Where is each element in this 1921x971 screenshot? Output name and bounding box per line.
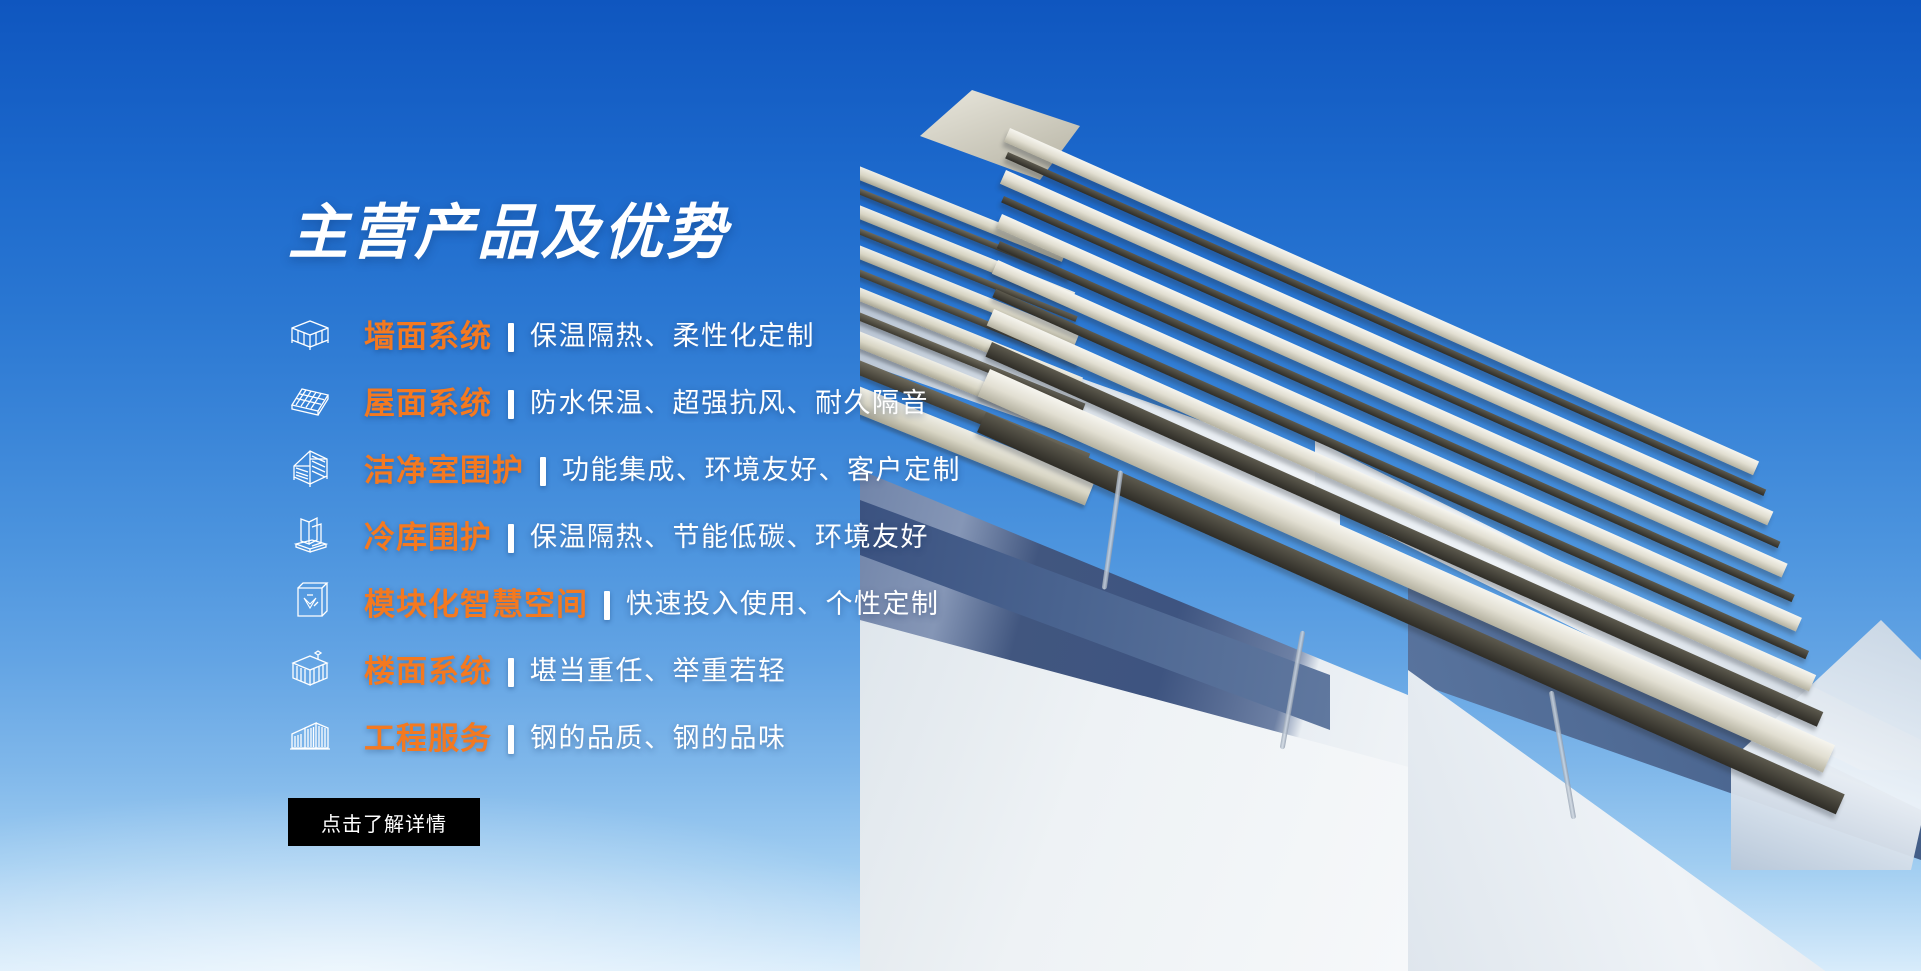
product-desc: 防水保温、超强抗风、耐久隔音: [530, 381, 929, 420]
product-separator: [508, 658, 514, 687]
product-separator: [508, 524, 514, 553]
product-title: 工程服务: [364, 713, 492, 758]
banner-stage: 主营产品及优势 墙面系统 保温隔热、柔性化定制: [0, 0, 1921, 971]
product-separator: [540, 457, 546, 486]
product-title: 洁净室围护: [364, 445, 524, 490]
product-desc: 钢的品质、钢的品味: [530, 716, 787, 755]
roof-system-icon: [288, 379, 332, 423]
product-row-cleanroom-enclosure[interactable]: 洁净室围护 功能集成、环境友好、客户定制: [288, 434, 1468, 501]
wall-system-icon: [288, 312, 332, 356]
cleanroom-enclosure-icon: [288, 446, 332, 490]
product-row-wall-system[interactable]: 墙面系统 保温隔热、柔性化定制: [288, 300, 1468, 367]
product-row-modular-smart-space[interactable]: 模块化智慧空间 快速投入使用、个性定制: [288, 568, 1468, 635]
page-title: 主营产品及优势: [288, 203, 729, 263]
product-desc: 保温隔热、节能低碳、环境友好: [530, 515, 929, 554]
product-desc: 保温隔热、柔性化定制: [530, 314, 815, 353]
product-row-roof-system[interactable]: 屋面系统 防水保温、超强抗风、耐久隔音: [288, 367, 1468, 434]
product-row-floor-system[interactable]: 楼面系统 堪当重任、举重若轻: [288, 635, 1468, 702]
product-title: 冷库围护: [364, 512, 492, 557]
product-title: 屋面系统: [364, 378, 492, 423]
floor-system-icon: [288, 647, 332, 691]
product-row-engineering-service[interactable]: 工程服务 钢的品质、钢的品味: [288, 702, 1468, 769]
learn-more-button[interactable]: 点击了解详情: [288, 798, 480, 846]
product-separator: [508, 390, 514, 419]
product-separator: [508, 323, 514, 352]
product-separator: [604, 591, 610, 620]
product-title: 楼面系统: [364, 646, 492, 691]
product-separator: [508, 725, 514, 754]
product-list: 墙面系统 保温隔热、柔性化定制 屋面系统 防水保温、超强抗风、耐久隔音: [288, 300, 1468, 769]
product-desc: 快速投入使用、个性定制: [626, 582, 940, 621]
product-title: 模块化智慧空间: [364, 579, 588, 624]
engineering-service-icon: [288, 714, 332, 758]
banner-content: 主营产品及优势 墙面系统 保温隔热、柔性化定制: [0, 0, 1921, 971]
cold-storage-enclosure-icon: [288, 513, 332, 557]
modular-smart-space-icon: [288, 580, 332, 624]
product-desc: 堪当重任、举重若轻: [530, 649, 787, 688]
learn-more-label: 点击了解详情: [321, 808, 447, 837]
product-title: 墙面系统: [364, 311, 492, 356]
product-row-cold-storage-enclosure[interactable]: 冷库围护 保温隔热、节能低碳、环境友好: [288, 501, 1468, 568]
product-desc: 功能集成、环境友好、客户定制: [562, 448, 961, 487]
